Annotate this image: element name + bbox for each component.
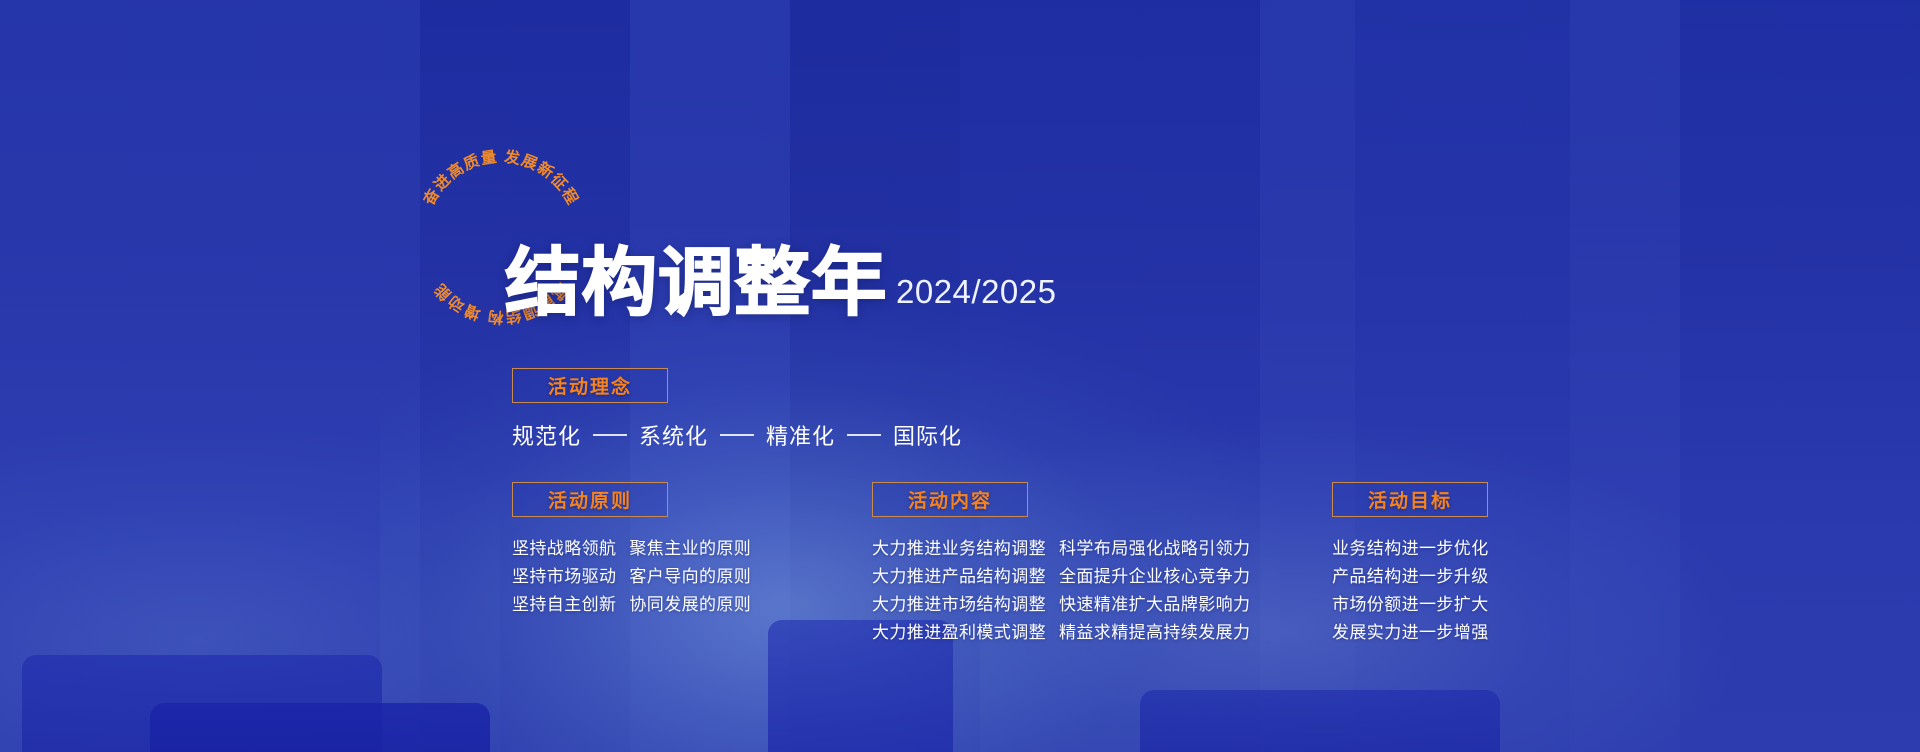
row-left: 大力推进盈利模式调整 — [872, 619, 1046, 647]
goals-row: 业务结构进一步优化 — [1332, 535, 1489, 563]
row-left: 坚持市场驱动 — [512, 563, 616, 591]
title-years: 2024/2025 — [896, 273, 1057, 320]
idea-tagline: 规范化 系统化 精准化 国际化 — [512, 419, 962, 451]
tagline-item-1: 系统化 — [639, 419, 708, 451]
goals-row: 市场份额进一步扩大 — [1332, 591, 1489, 619]
contents-row: 大力推进业务结构调整 科学布局强化战略引领力 — [872, 535, 1250, 563]
row-right: 客户导向的原则 — [629, 563, 751, 591]
row-right: 聚焦主业的原则 — [629, 535, 751, 563]
tagline-item-2: 精准化 — [766, 419, 835, 451]
badge-activity-contents: 活动内容 — [872, 482, 1028, 517]
column-principles: 坚持战略领航 聚焦主业的原则 坚持市场驱动 客户导向的原则 坚持自主创新 协同发… — [512, 535, 751, 619]
title-row: 结构调整年 2024/2025 — [505, 246, 1057, 320]
row-left: 市场份额进一步扩大 — [1332, 591, 1489, 619]
row-left: 大力推进业务结构调整 — [872, 535, 1046, 563]
badge-activity-idea: 活动理念 — [512, 368, 668, 403]
badge-activity-principles: 活动原则 — [512, 482, 668, 517]
badge-activity-goals: 活动目标 — [1332, 482, 1488, 517]
tagline-item-0: 规范化 — [512, 419, 581, 451]
column-contents: 大力推进业务结构调整 科学布局强化战略引领力 大力推进产品结构调整 全面提升企业… — [872, 535, 1250, 647]
contents-row: 大力推进产品结构调整 全面提升企业核心竞争力 — [872, 563, 1250, 591]
seal-top-tspan: 奋进高质量 发展新征程 — [419, 147, 582, 210]
banner-content: 奋进高质量 发展新征程 赋能调结构 增动能 结构调整年 2024/2025 活动… — [0, 0, 1920, 752]
goals-row: 发展实力进一步增强 — [1332, 619, 1489, 647]
row-left: 发展实力进一步增强 — [1332, 619, 1489, 647]
contents-row: 大力推进盈利模式调整 精益求精提高持续发展力 — [872, 619, 1250, 647]
tagline-separator-2 — [847, 434, 881, 436]
row-left: 大力推进产品结构调整 — [872, 563, 1046, 591]
row-right: 全面提升企业核心竞争力 — [1059, 563, 1250, 591]
page-title: 结构调整年 — [505, 246, 888, 320]
tagline-separator-0 — [593, 434, 627, 436]
tagline-item-3: 国际化 — [893, 419, 962, 451]
seal-top-text: 奋进高质量 发展新征程 — [419, 147, 582, 210]
goals-row: 产品结构进一步升级 — [1332, 563, 1489, 591]
row-left: 坚持自主创新 — [512, 591, 616, 619]
column-goals: 业务结构进一步优化 产品结构进一步升级 市场份额进一步扩大 发展实力进一步增强 — [1332, 535, 1489, 647]
principles-row: 坚持自主创新 协同发展的原则 — [512, 591, 751, 619]
principles-row: 坚持战略领航 聚焦主业的原则 — [512, 535, 751, 563]
row-left: 坚持战略领航 — [512, 535, 616, 563]
tagline-separator-1 — [720, 434, 754, 436]
row-right: 精益求精提高持续发展力 — [1059, 619, 1250, 647]
principles-row: 坚持市场驱动 客户导向的原则 — [512, 563, 751, 591]
row-left: 产品结构进一步升级 — [1332, 563, 1489, 591]
contents-row: 大力推进市场结构调整 快速精准扩大品牌影响力 — [872, 591, 1250, 619]
row-right: 协同发展的原则 — [629, 591, 751, 619]
row-left: 业务结构进一步优化 — [1332, 535, 1489, 563]
row-right: 快速精准扩大品牌影响力 — [1059, 591, 1250, 619]
banner-stage: 奋进高质量 发展新征程 赋能调结构 增动能 结构调整年 2024/2025 活动… — [0, 0, 1920, 752]
row-left: 大力推进市场结构调整 — [872, 591, 1046, 619]
row-right: 科学布局强化战略引领力 — [1059, 535, 1250, 563]
